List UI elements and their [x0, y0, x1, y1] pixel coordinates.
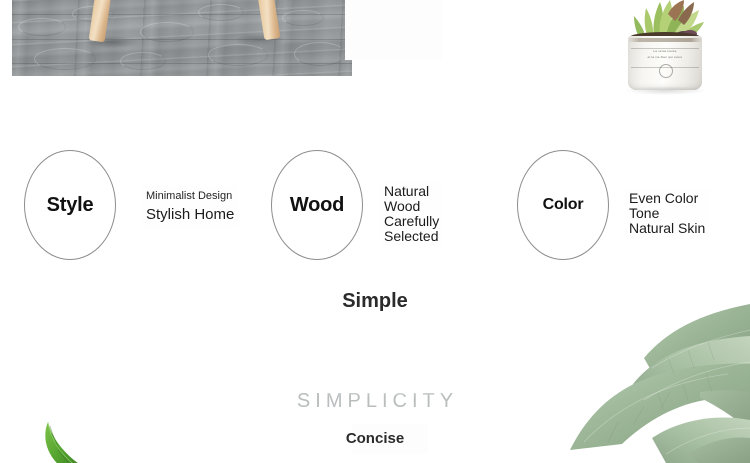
feature-style: Style Minimalist Design Stylish Home — [24, 150, 238, 268]
feature-line: Natural — [384, 184, 439, 199]
feature-line: Selected — [384, 229, 439, 244]
pot-seal-icon — [659, 64, 673, 78]
feature-text-color: Even Color Tone Natural Skin — [625, 189, 709, 238]
feature-circle-color: Color — [517, 150, 609, 260]
feature-text-wood: Natural Wood Carefully Selected — [380, 182, 443, 246]
plant-pot: La vente louise et la vie bien qui ouvre — [628, 36, 702, 90]
feature-circle-label-color: Color — [543, 196, 584, 214]
feature-row: Style Minimalist Design Stylish Home Woo… — [0, 150, 750, 270]
feature-circle-label-style: Style — [47, 194, 94, 217]
pot-label-line-1: La vente louise — [628, 49, 702, 54]
pot-label-line-2: et la vie bien qui ouvre — [628, 55, 702, 60]
feature-line: Tone — [629, 206, 705, 221]
feature-line: Wood — [384, 199, 439, 214]
feature-line: Stylish Home — [146, 204, 234, 226]
feature-color: Color Even Color Tone Natural Skin — [517, 150, 709, 268]
potted-plant-photo: La vente louise et la vie bien qui ouvre — [596, 0, 750, 108]
feature-line: Natural Skin — [629, 221, 705, 236]
simple-heading: Simple — [0, 290, 750, 313]
simplicity-veil — [322, 382, 450, 396]
feature-circle-wood: Wood — [271, 150, 363, 260]
feature-wood: Wood Natural Wood Carefully Selected — [271, 150, 443, 268]
floor-photo — [12, 0, 352, 76]
feature-line: Even Color — [629, 191, 705, 206]
feature-line: Minimalist Design — [146, 188, 234, 204]
concise-subheading: Concise — [0, 430, 750, 447]
product-detail-banner: La vente louise et la vie bien qui ouvre… — [0, 0, 750, 463]
feature-circle-label-wood: Wood — [290, 194, 344, 217]
feature-circle-style: Style — [24, 150, 116, 260]
feature-text-style: Minimalist Design Stylish Home — [142, 186, 238, 228]
simple-backdrop — [345, 0, 442, 60]
feature-line: Carefully — [384, 214, 439, 229]
